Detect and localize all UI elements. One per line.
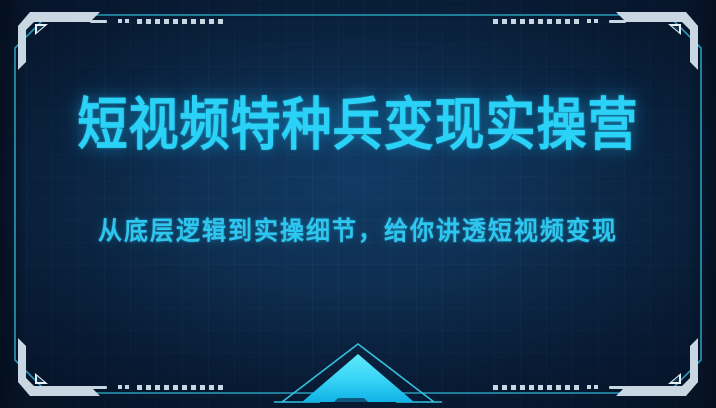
inner-frame: [14, 14, 702, 394]
vignette-overlay: [0, 0, 716, 408]
left-edge-band: [0, 0, 26, 408]
corner-bracket-icon-bottom-left: [4, 316, 124, 402]
page-title: 短视频特种兵变现实操营: [0, 96, 716, 153]
triangle-emblem-icon: [268, 340, 448, 408]
corner-bracket-icon-top-right: [592, 6, 712, 92]
tick-row-top-right: [489, 17, 626, 25]
grid-texture: [0, 0, 716, 408]
text-block: 短视频特种兵变现实操营 从底层逻辑到实操细节，给你讲透短视频变现: [0, 96, 716, 242]
tick-row-bottom-left: [90, 383, 227, 391]
corner-bracket-icon-bottom-right: [592, 316, 712, 402]
tick-row-bottom-right: [489, 383, 626, 391]
right-edge-band: [690, 0, 716, 408]
subtitle: 从底层逻辑到实操细节，给你讲透短视频变现: [0, 143, 716, 245]
course-promo-banner: 短视频特种兵变现实操营 从底层逻辑到实操细节，给你讲透短视频变现: [0, 0, 716, 408]
tick-row-top-left: [90, 17, 227, 25]
corner-bracket-icon-top-left: [4, 6, 124, 92]
